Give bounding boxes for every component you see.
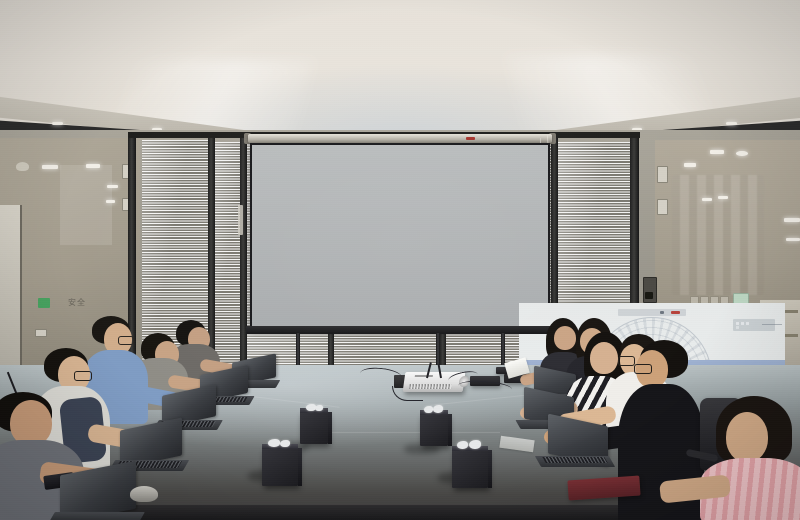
tissue-puff [457, 441, 468, 449]
blind-wand-handle [238, 205, 243, 235]
office-door-left [0, 205, 22, 365]
glass-marking-left: 安全 [68, 297, 86, 308]
office-ceiling-light [86, 164, 100, 168]
office-ceiling-light [710, 150, 724, 154]
glass-reflection-right [672, 175, 764, 295]
head [554, 326, 576, 350]
tissue-box [452, 450, 488, 488]
glasses-icon [74, 371, 92, 381]
access-control-panel[interactable] [657, 166, 668, 183]
office-ceiling-light [684, 163, 696, 167]
tissue-box [420, 414, 448, 446]
head [590, 342, 618, 374]
cable-tag-icon [466, 137, 475, 140]
office-wall-panel-left [60, 165, 112, 245]
tissue-box-side [488, 450, 492, 488]
office-ceiling-light [106, 200, 115, 203]
office-ceiling-light [784, 218, 800, 222]
conference-room-photo: 安全 安全 [0, 0, 800, 520]
slide-corner-rule [762, 324, 782, 325]
projector-button-row[interactable] [415, 375, 433, 377]
tissue-puff [268, 439, 280, 447]
security-camera-icon [16, 162, 29, 171]
office-ceiling-light [42, 165, 58, 169]
tissue-puff [424, 406, 433, 413]
projection-screen-bottom-bar [246, 326, 554, 334]
laptop-base [49, 512, 145, 520]
tissue-box-side [328, 412, 332, 444]
head [726, 412, 768, 462]
office-ceiling-light [107, 185, 118, 188]
glasses-icon [618, 356, 635, 366]
tissue-puff [433, 405, 443, 413]
tissue-puff [280, 440, 290, 447]
tissue-box [262, 448, 298, 486]
office-ceiling-light [786, 238, 800, 241]
ceiling-spotlight [726, 122, 737, 125]
office-ceiling-light [702, 198, 712, 201]
door-lock-panel [35, 329, 47, 337]
slide-corner-badge [733, 319, 775, 331]
tissue-box [300, 412, 328, 444]
glasses-icon [634, 364, 652, 374]
card-reader-screen [645, 292, 653, 299]
window-mullion [240, 138, 247, 370]
access-control-panel[interactable] [657, 199, 668, 215]
card-reader-icon[interactable] [643, 277, 657, 303]
tissue-puff [315, 405, 323, 411]
office-ceiling-light [736, 151, 748, 156]
ceiling-spotlight [52, 122, 63, 125]
projection-screen: 网络数据安全意识培训 [250, 143, 550, 328]
tissue-box-side [448, 414, 452, 446]
exit-sign-icon [38, 298, 50, 308]
office-ceiling-light [718, 196, 728, 199]
laptop-keyboard[interactable] [542, 457, 607, 463]
slide-toolbar-strip [618, 309, 686, 316]
tissue-box-side [298, 448, 302, 486]
tissue-puff [469, 440, 481, 449]
glasses-icon [118, 336, 134, 345]
computer-mouse[interactable] [130, 486, 158, 502]
